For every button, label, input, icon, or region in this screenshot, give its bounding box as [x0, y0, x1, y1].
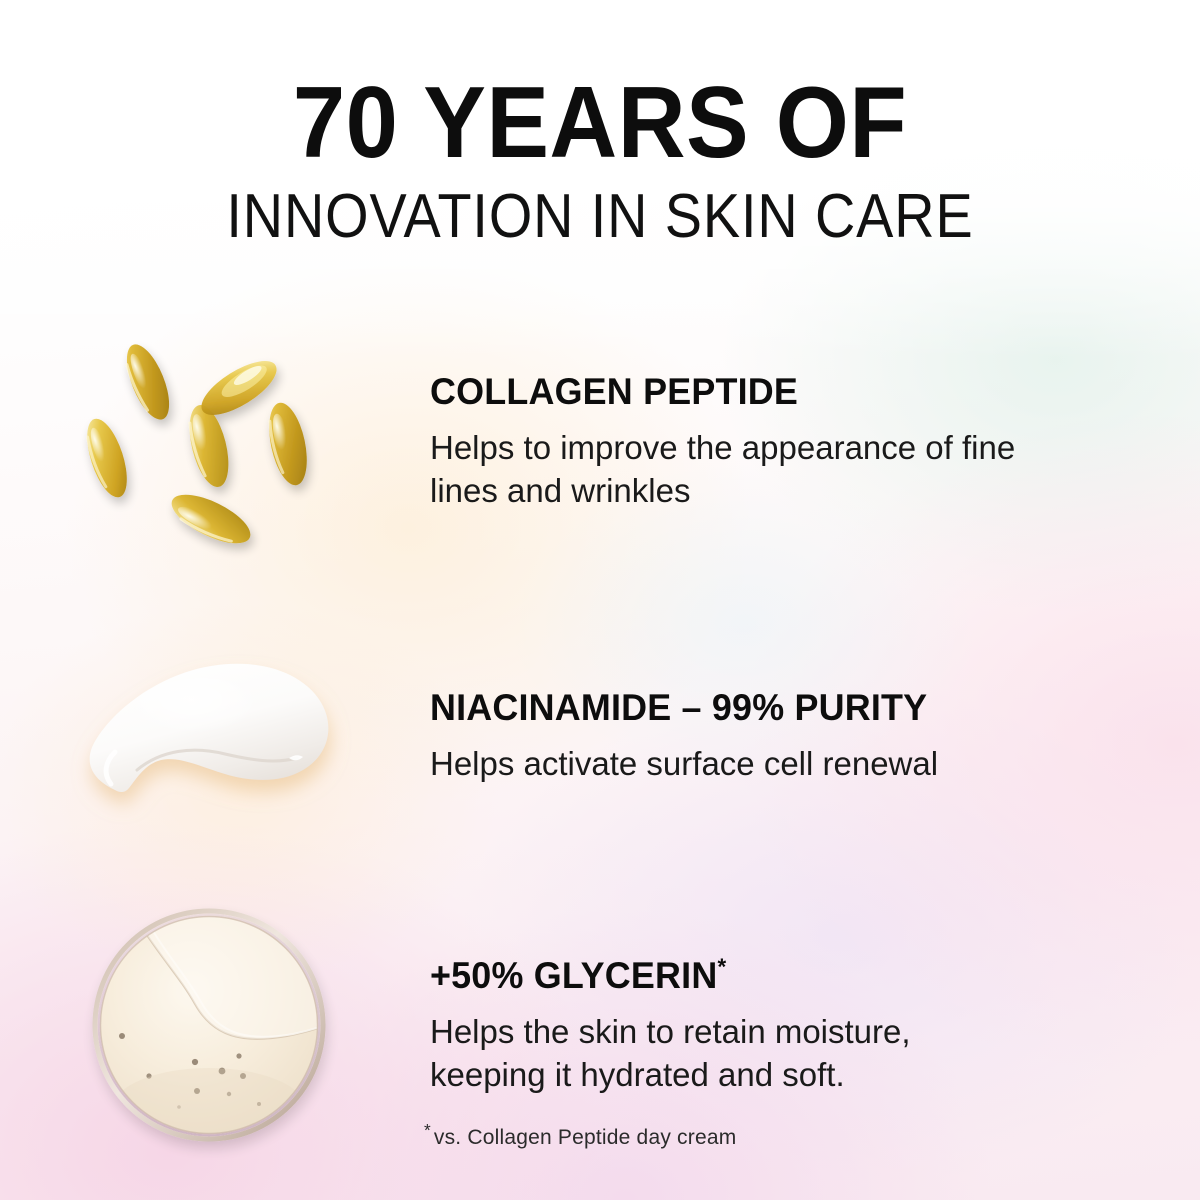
feature-title-niacinamide: NIACINAMIDE – 99% PURITY [430, 689, 1130, 728]
poster-header: 70 YEARS OF INNOVATION IN SKIN CARE [0, 0, 1200, 248]
feature-text-collagen-peptide: COLLAGEN PEPTIDE Helps to improve the ap… [430, 373, 1200, 513]
capsules-visual [0, 318, 430, 568]
headline: 70 YEARS OF [42, 0, 1158, 172]
skincare-promo-poster: 70 YEARS OF INNOVATION IN SKIN CARE [0, 0, 1200, 1200]
cream-swatch-visual [0, 612, 430, 862]
footnote-text: vs. Collagen Peptide day cream [434, 1126, 737, 1149]
softgel-capsules-icon [80, 336, 350, 551]
feature-list: COLLAGEN PEPTIDE Helps to improve the ap… [0, 318, 1200, 1152]
feature-row-collagen-peptide: COLLAGEN PEPTIDE Helps to improve the ap… [0, 318, 1200, 568]
footnote-marker: * [424, 1120, 431, 1140]
feature-text-glycerin: +50% GLYCERIN* Helps the skin to retain … [430, 957, 1200, 1097]
footnote: *vs. Collagen Peptide day cream [424, 1126, 736, 1150]
feature-title-glycerin: +50% GLYCERIN* [430, 957, 1130, 996]
feature-title-collagen-peptide: COLLAGEN PEPTIDE [430, 373, 1130, 412]
petri-dish-icon [91, 908, 339, 1146]
feature-description-niacinamide: Helps activate surface cell renewal [430, 742, 1030, 786]
feature-title-glycerin-main: +50% GLYCERIN [430, 955, 717, 996]
subheadline: INNOVATION IN SKIN CARE [60, 172, 1140, 248]
feature-title-glycerin-asterisk: * [717, 954, 726, 980]
feature-row-niacinamide: NIACINAMIDE – 99% PURITY Helps activate … [0, 612, 1200, 862]
feature-description-collagen-peptide: Helps to improve the appearance of fine … [430, 426, 1030, 513]
feature-description-glycerin: Helps the skin to retain moisture, keepi… [430, 1010, 1030, 1097]
feature-row-glycerin: +50% GLYCERIN* Helps the skin to retain … [0, 902, 1200, 1152]
petri-dish-visual [0, 902, 430, 1152]
cream-swatch-icon [75, 642, 355, 832]
feature-text-niacinamide: NIACINAMIDE – 99% PURITY Helps activate … [430, 689, 1200, 785]
